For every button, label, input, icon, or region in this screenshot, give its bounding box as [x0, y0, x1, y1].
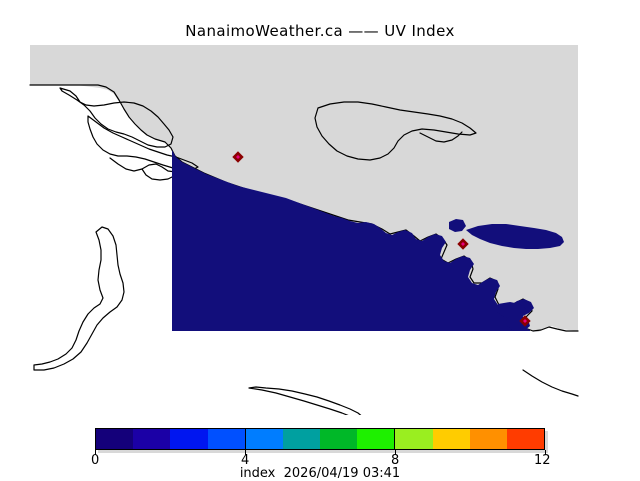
colorbar-segment-7 — [357, 429, 394, 449]
colorbar-segment-4 — [245, 429, 283, 449]
uv-index-map-page: NanaimoWeather.ca —— UV Index — [0, 0, 640, 480]
map-canvas[interactable] — [0, 40, 640, 415]
colorbar-segment-5 — [283, 429, 320, 449]
map-graphic — [0, 40, 640, 415]
colorbar-segment-0 — [96, 429, 133, 449]
coastline-southern-island — [249, 387, 424, 415]
coastline-vancouver-island-strip — [34, 227, 124, 370]
page-title: NanaimoWeather.ca —— UV Index — [0, 22, 640, 40]
colorbar-segment-6 — [320, 429, 357, 449]
coastline-southeast-coast — [523, 370, 578, 396]
colorbar-segment-2 — [170, 429, 207, 449]
colorbar-segment-3 — [208, 429, 245, 449]
colorbar-caption: index 2026/04/19 03:41 — [0, 466, 640, 481]
colorbar-segment-9 — [433, 429, 470, 449]
colorbar-segment-11 — [507, 429, 544, 449]
colorbar-segment-1 — [133, 429, 170, 449]
colorbar-gradient[interactable] — [95, 428, 545, 450]
colorbar-segment-8 — [394, 429, 432, 449]
colorbar[interactable] — [95, 428, 545, 450]
colorbar-segment-10 — [470, 429, 507, 449]
